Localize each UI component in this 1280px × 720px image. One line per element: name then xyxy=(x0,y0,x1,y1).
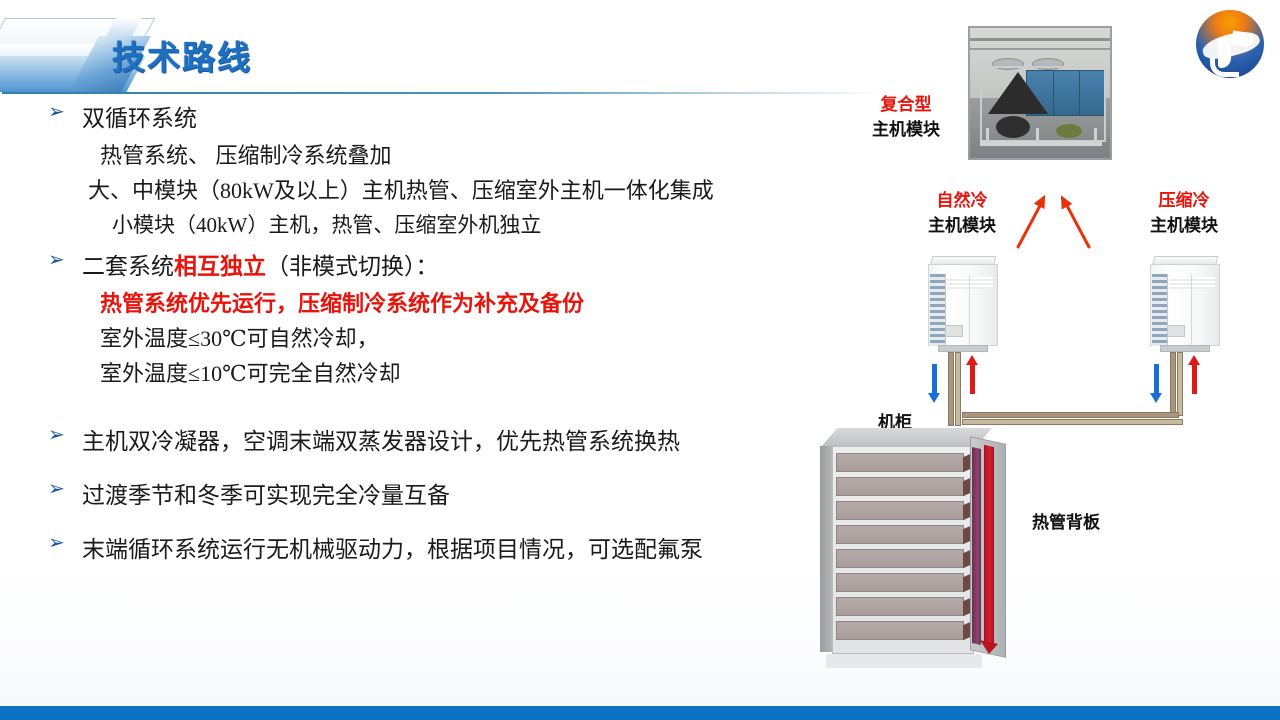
photo-leg-1 xyxy=(986,128,989,144)
rack-shelf xyxy=(836,453,964,472)
spacer-4 xyxy=(48,515,868,531)
bullet-2-heading-part-1: 二套系统 xyxy=(82,254,174,279)
bullet-1-line-3: 小模块（40kW）主机，热管、压缩室外机独立 xyxy=(48,208,868,242)
merge-arrow-left-icon xyxy=(1016,201,1043,248)
cabinet-top-panel xyxy=(820,428,992,448)
label-compression-module: 压缩冷 主机模块 xyxy=(1150,186,1218,236)
pipe-left-riser-b xyxy=(955,352,961,426)
unit-foot-rail xyxy=(1160,345,1210,352)
slide-canvas: 技术路线 ➢ 双循环系统 热管系统、 压缩制冷系统叠加 大、中模块（80kW及以… xyxy=(0,0,1280,720)
unit-foot-rail xyxy=(938,345,988,352)
composite-chiller-photo xyxy=(968,26,1112,160)
photo-leg-2 xyxy=(1036,128,1039,144)
page-title: 技术路线 xyxy=(112,31,252,79)
unit-louver xyxy=(947,277,993,289)
label-composite-module: 复合型 主机模块 xyxy=(872,90,940,140)
label-heatpipe-backplate: 热管背板 xyxy=(1032,508,1100,533)
photo-leg-3 xyxy=(1094,128,1097,144)
label-compress-black: 主机模块 xyxy=(1150,211,1218,236)
bullet-arrow-icon: ➢ xyxy=(48,423,82,445)
unit-body xyxy=(928,264,998,346)
label-composite-red: 复合型 xyxy=(872,90,940,115)
bullet-item-3: ➢ 主机双冷凝器，空调末端双蒸发器设计，优先热管系统换热 xyxy=(48,423,868,461)
bullet-arrow-icon: ➢ xyxy=(48,531,82,553)
backplate-pipe-supply xyxy=(972,447,981,645)
unit-coil-grille xyxy=(930,274,946,346)
merge-arrow-right-icon xyxy=(1064,201,1091,248)
content-body: ➢ 双循环系统 热管系统、 压缩制冷系统叠加 大、中模块（80kW及以上）主机热… xyxy=(48,100,868,569)
label-natural-black: 主机模块 xyxy=(928,211,996,236)
unit-coil-grille xyxy=(1152,274,1168,346)
bullet-2-heading-part-3: （非模式切换）： xyxy=(266,254,439,279)
flow-arrow-right-down-icon xyxy=(1154,364,1159,394)
pipe-left-riser-a xyxy=(948,352,954,426)
bullet-arrow-icon: ➢ xyxy=(48,100,82,122)
title-underline-rule xyxy=(2,92,882,94)
bullet-item-5: ➢ 末端循环系统运行无机械驱动力，根据项目情况，可选配氟泵 xyxy=(48,531,868,569)
cabinet-front-face xyxy=(832,446,974,654)
bullet-2-line-2: 室外温度≤30℃可自然冷却， xyxy=(48,321,868,356)
label-composite-black: 主机模块 xyxy=(872,115,940,140)
bullet-2-line-3: 室外温度≤10℃可完全自然冷却 xyxy=(48,356,868,391)
server-cabinet xyxy=(820,428,1020,668)
bullet-arrow-icon: ➢ xyxy=(48,248,82,270)
bullet-item-2: ➢ 二套系统相互独立（非模式切换）： xyxy=(48,248,868,286)
bullet-arrow-icon: ➢ xyxy=(48,477,82,499)
spacer-1 xyxy=(48,391,868,407)
pipe-horizontal-a xyxy=(962,412,1179,418)
outdoor-unit-natural-cooling xyxy=(928,256,996,348)
label-compress-red: 压缩冷 xyxy=(1150,186,1218,211)
rack-shelf xyxy=(836,549,964,568)
spacer-2 xyxy=(48,407,868,423)
unit-panel-split xyxy=(969,275,970,345)
bullet-2-heading: 二套系统相互独立（非模式切换）： xyxy=(82,248,439,286)
flow-arrow-left-down-icon xyxy=(932,364,937,394)
bullet-2-heading-part-2: 相互独立 xyxy=(174,254,266,279)
unit-service-plate xyxy=(1167,325,1185,337)
photo-tank xyxy=(1056,124,1082,138)
flow-arrow-right-up-icon xyxy=(1192,364,1197,394)
rack-shelf xyxy=(836,501,964,520)
rack-shelf xyxy=(836,477,964,496)
footer-bar xyxy=(0,706,1280,720)
bullet-1-heading: 双循环系统 xyxy=(82,100,197,138)
cabinet-floor-shadow xyxy=(826,654,982,668)
bullet-4-heading: 过渡季节和冬季可实现完全冷量互备 xyxy=(82,477,450,515)
rack-shelf xyxy=(836,573,964,592)
system-diagram: 复合型 主机模块 自然冷 主机模块 xyxy=(820,8,1280,698)
label-natural-cooling-module: 自然冷 主机模块 xyxy=(928,186,996,236)
bullet-3-heading: 主机双冷凝器，空调末端双蒸发器设计，优先热管系统换热 xyxy=(82,423,680,461)
pipe-right-riser-b xyxy=(1177,352,1183,416)
unit-service-plate xyxy=(945,325,963,337)
photo-coil-vee xyxy=(988,72,1048,114)
photo-beam xyxy=(970,38,1110,41)
pipe-right-riser-a xyxy=(1170,352,1176,416)
label-natural-red: 自然冷 xyxy=(928,186,996,211)
rack-shelf xyxy=(836,525,964,544)
bullet-item-4: ➢ 过渡季节和冬季可实现完全冷量互备 xyxy=(48,477,868,515)
unit-body xyxy=(1150,264,1220,346)
bullet-2-line-1: 热管系统优先运行，压缩制冷系统作为补充及备份 xyxy=(48,286,868,321)
rack-shelf xyxy=(836,597,964,616)
flow-arrow-left-up-icon xyxy=(970,364,975,394)
photo-drum xyxy=(996,116,1030,138)
bullet-5-heading: 末端循环系统运行无机械驱动力，根据项目情况，可选配氟泵 xyxy=(82,531,703,569)
backplate-pipe-return xyxy=(984,445,994,645)
unit-panel-split xyxy=(1191,275,1192,345)
unit-louver xyxy=(1169,277,1215,289)
photo-base-rail xyxy=(980,141,1102,146)
bullet-1-line-1: 热管系统、 压缩制冷系统叠加 xyxy=(48,138,868,173)
bullet-1-line-2: 大、中模块（80kW及以上）主机热管、压缩室外主机一体化集成 xyxy=(48,173,868,208)
pipe-horizontal-b xyxy=(962,419,1183,425)
spacer-3 xyxy=(48,461,868,477)
outdoor-unit-compression xyxy=(1150,256,1218,348)
rack-shelf xyxy=(836,621,964,640)
photo-beam-2 xyxy=(970,48,1110,50)
bullet-item-1: ➢ 双循环系统 xyxy=(48,100,868,138)
